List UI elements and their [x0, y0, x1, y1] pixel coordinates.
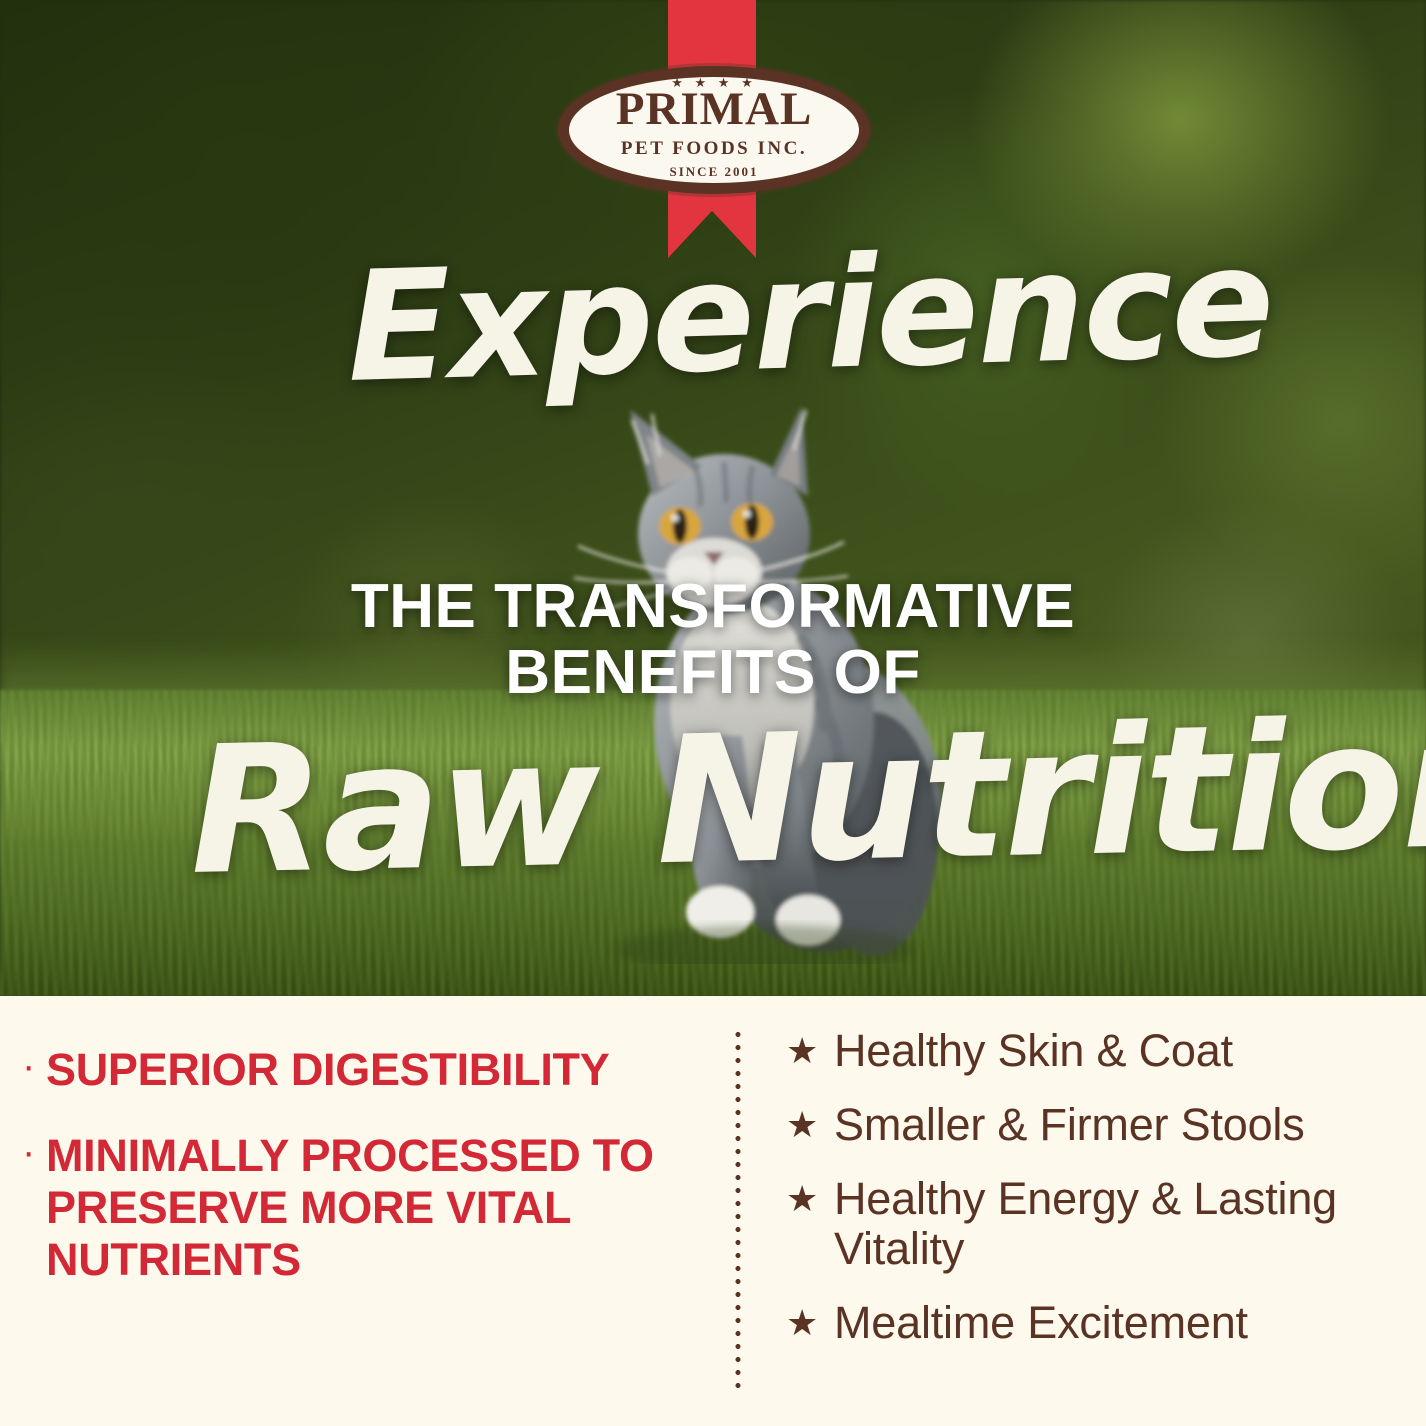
bullet-dot-icon: ·: [22, 1044, 46, 1088]
headline-experience: Experience: [345, 226, 1274, 404]
benefits-panel: · SUPERIOR DIGESTIBILITY · MINIMALLY PRO…: [0, 996, 1426, 1426]
benefit-text: SUPERIOR DIGESTIBILITY: [46, 1044, 609, 1096]
subheadline-line-1: THE TRANSFORMATIVE: [0, 576, 1426, 638]
list-item: ★ Healthy Skin & Coat: [786, 1026, 1426, 1076]
primal-raw-nutrition-poster: ★ ★ ★ ★ PRIMAL ™ PET FOODS INC. SINCE 20…: [0, 0, 1426, 1426]
list-item: · SUPERIOR DIGESTIBILITY: [22, 1044, 712, 1096]
list-item: · MINIMALLY PROCESSED TO PRESERVE MORE V…: [22, 1130, 712, 1286]
benefits-right-column: ★ Healthy Skin & Coat ★ Smaller & Firmer…: [786, 1026, 1426, 1372]
list-item: ★ Mealtime Excitement: [786, 1298, 1426, 1348]
headline-raw-nutrition: Raw Nutrition: [188, 696, 1426, 900]
star-icon: ★: [786, 1100, 834, 1150]
logo-trademark-symbol: ™: [835, 96, 846, 108]
bullet-dot-icon: ·: [22, 1130, 46, 1174]
star-icon: ★: [786, 1174, 834, 1224]
star-icon: ★: [786, 1298, 834, 1348]
star-icon: ★: [786, 1026, 834, 1076]
benefits-left-column: · SUPERIOR DIGESTIBILITY · MINIMALLY PRO…: [22, 1044, 712, 1320]
logo-tagline: PET FOODS INC.: [558, 139, 870, 158]
logo-brand-name: PRIMAL: [558, 86, 870, 133]
benefit-text: Healthy Skin & Coat: [834, 1026, 1233, 1076]
hero-photo-section: ★ ★ ★ ★ PRIMAL ™ PET FOODS INC. SINCE 20…: [0, 0, 1426, 996]
primal-pet-foods-logo: ★ ★ ★ ★ PRIMAL ™ PET FOODS INC. SINCE 20…: [558, 66, 870, 194]
benefit-text: MINIMALLY PROCESSED TO PRESERVE MORE VIT…: [46, 1130, 712, 1286]
list-item: ★ Healthy Energy & Lasting Vitality: [786, 1174, 1426, 1274]
list-item: ★ Smaller & Firmer Stools: [786, 1100, 1426, 1150]
logo-since-year: SINCE 2001: [558, 165, 870, 178]
benefit-text: Mealtime Excitement: [834, 1298, 1248, 1348]
benefit-text: Healthy Energy & Lasting Vitality: [834, 1174, 1426, 1274]
dotted-vertical-divider: [733, 1028, 743, 1394]
benefit-text: Smaller & Firmer Stools: [834, 1100, 1305, 1150]
